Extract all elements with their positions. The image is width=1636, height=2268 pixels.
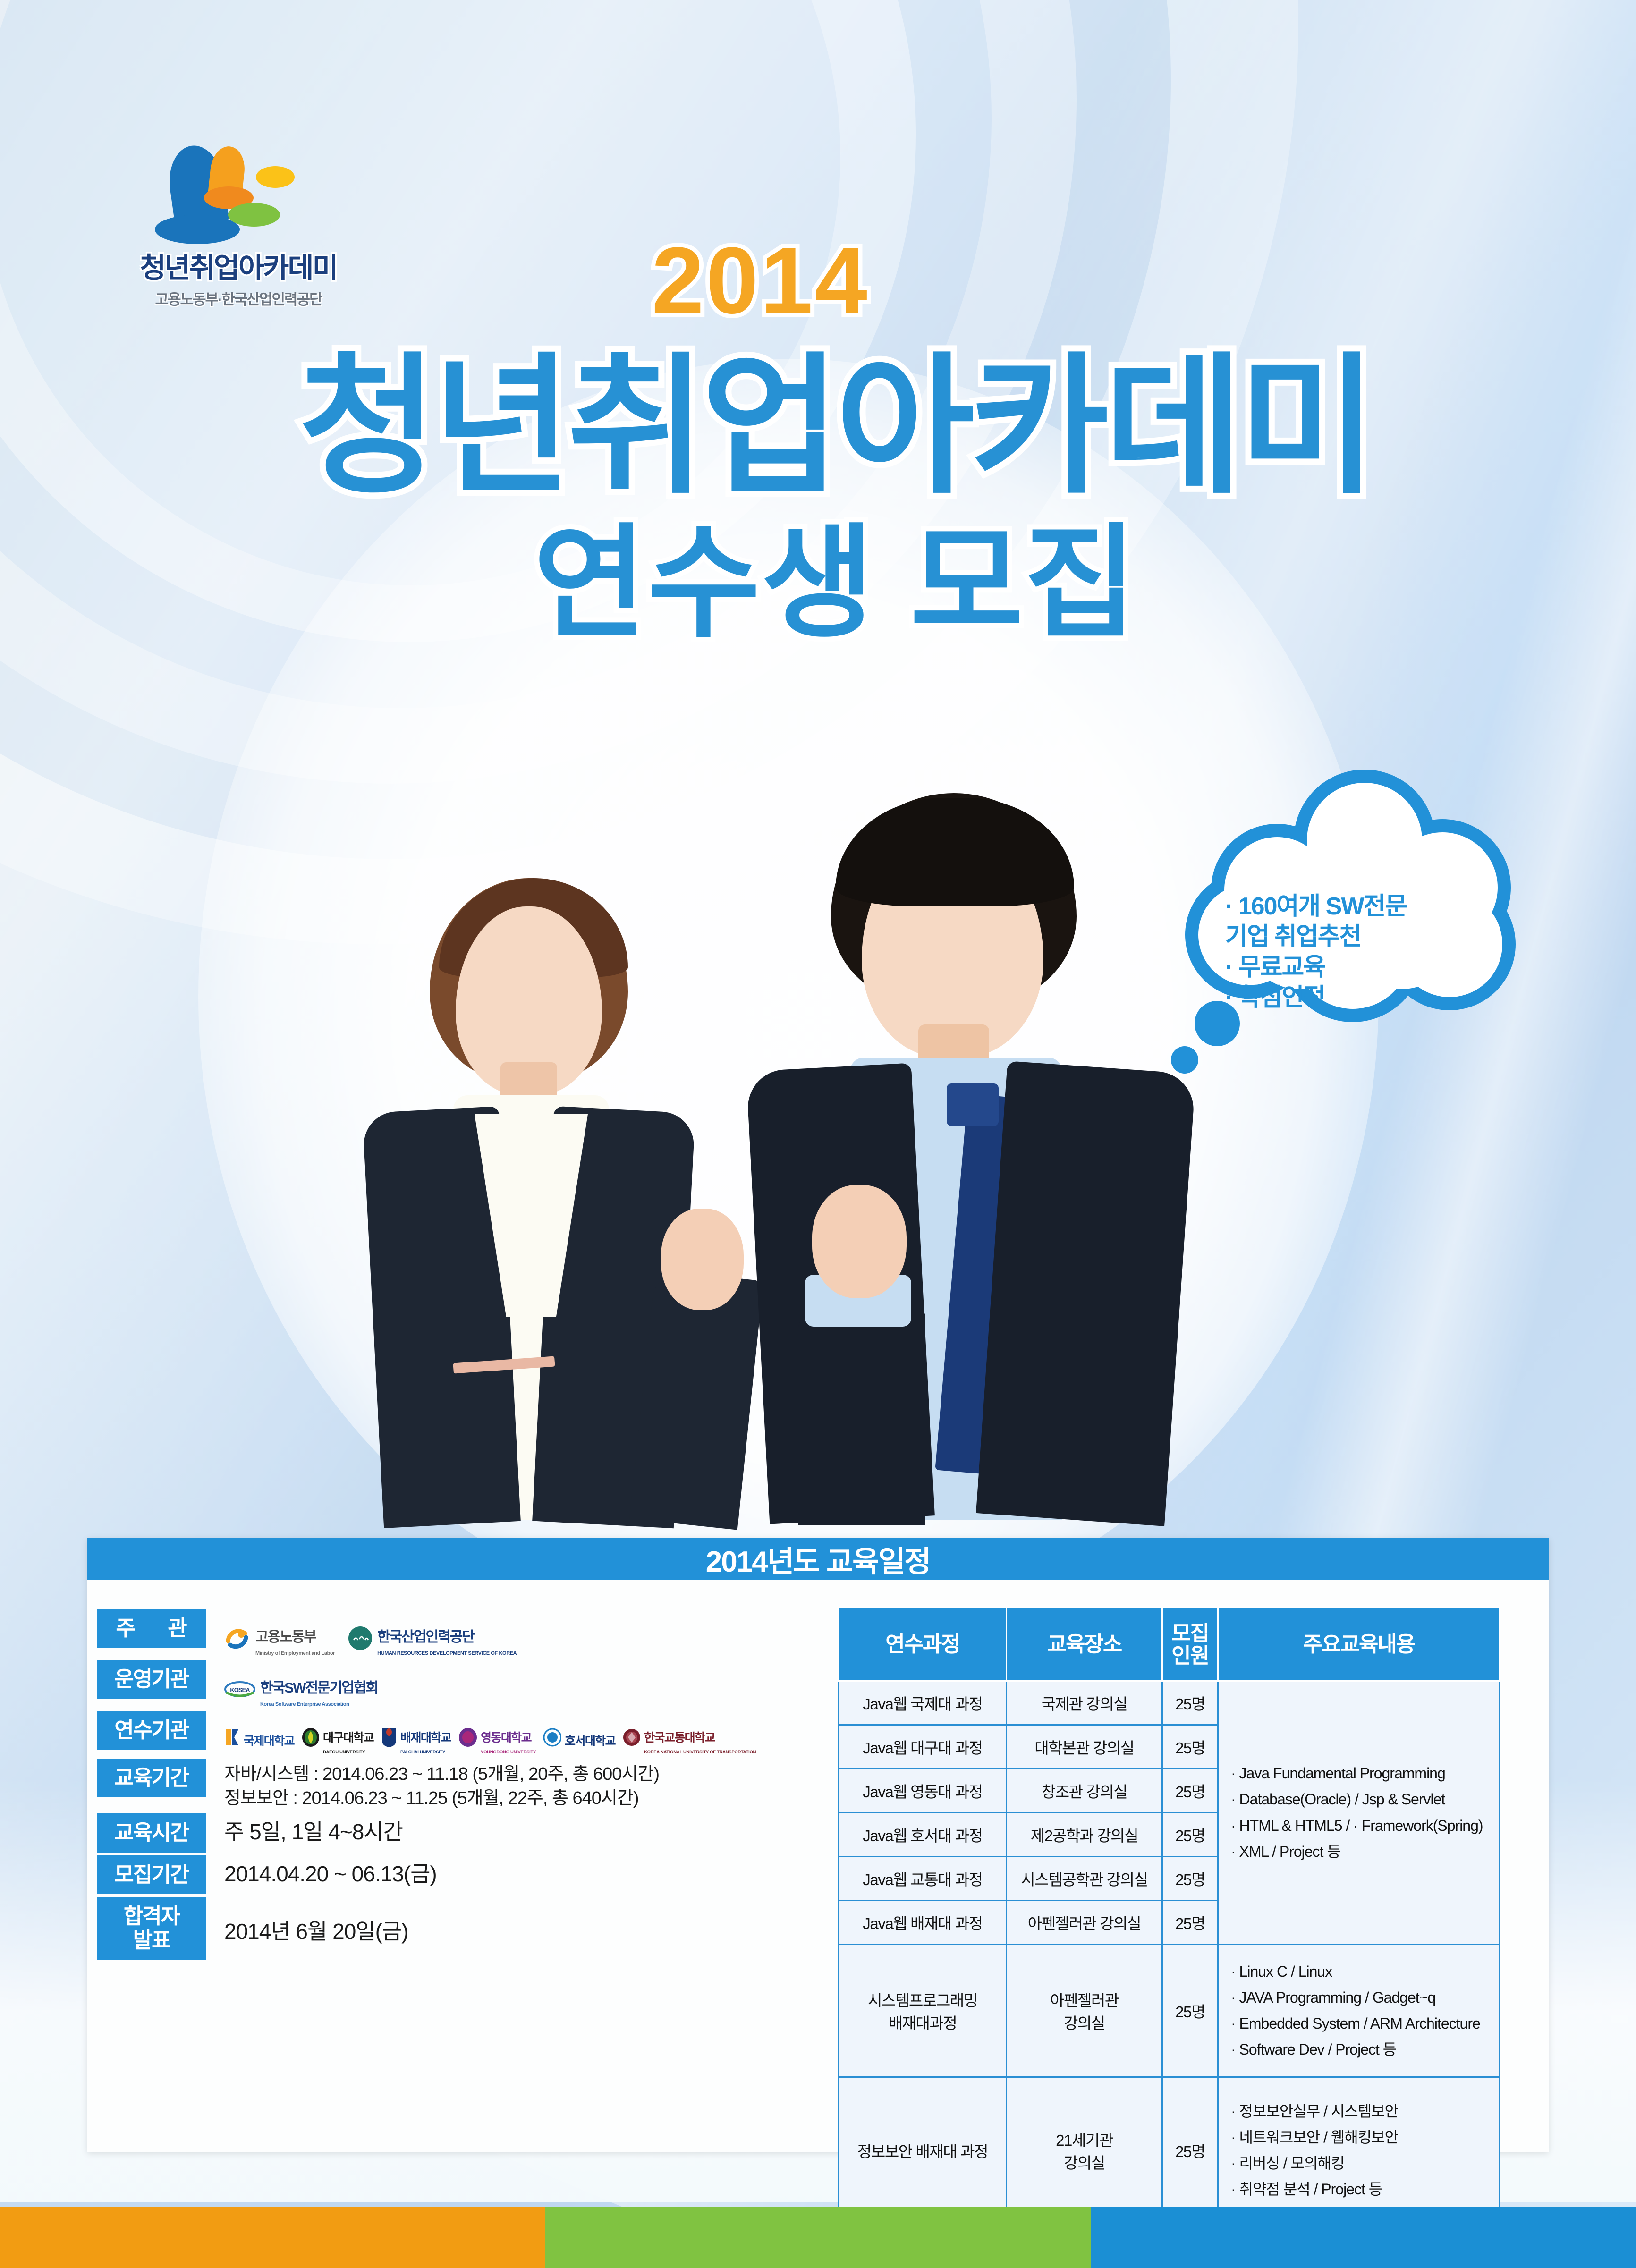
highlights-text: · 160여개 SW전문 기업 취업추천 · 무료교육 · 학점인정 — [1225, 891, 1490, 1013]
info-label-host: 주 관 — [97, 1609, 206, 1648]
info-value-training-institutions: 국제대학교 대구대학교 DAEGU UNIVERSITY — [206, 1711, 833, 1756]
university-daegu-en: DAEGU UNIVERSITY — [323, 1750, 373, 1756]
cell-topics-sysprog: · Linux C / Linux · JAVA Programming / G… — [1218, 1945, 1500, 2077]
bottom-bar-orange — [0, 2207, 545, 2268]
cell-quota: 25명 — [1162, 1813, 1218, 1857]
man-necktie-knot — [947, 1083, 999, 1126]
university-transportation: 한국교통대학교 KOREA NATIONAL UNIVERSITY OF TRA… — [623, 1719, 756, 1756]
highlights-speech-bubble: · 160여개 SW전문 기업 취업추천 · 무료교육 · 학점인정 — [1176, 770, 1525, 1039]
cell-place: 아펜젤러관 강의실 — [1007, 1901, 1162, 1945]
table-row: 시스템프로그래밍 배재대과정 아펜젤러관 강의실 25명 · Linux C /… — [839, 1945, 1500, 2077]
info-label-operator: 운영기관 — [97, 1660, 206, 1699]
cell-quota: 25명 — [1162, 1725, 1218, 1769]
university-transportation-ko: 한국교통대학교 — [644, 1731, 715, 1744]
col-header-topics: 주요교육내용 — [1218, 1608, 1500, 1681]
info-row-host: 주 관 고용노동부 Ministry of Employment an — [87, 1609, 833, 1657]
cell-course: Java웹 영동대 과정 — [839, 1769, 1007, 1813]
youngdong-crest-icon — [458, 1727, 477, 1747]
sponsor-molab-ko: 고용노동부 — [255, 1629, 316, 1645]
info-row-training-institutions: 연수기관 국제대학교 — [87, 1711, 833, 1756]
col-header-course: 연수과정 — [839, 1608, 1007, 1681]
info-row-operator: 운영기관 KOSEA 한국SW전문기업협회 Korea Software Ent — [87, 1660, 833, 1708]
table-header-row: 연수과정 교육장소 모집 인원 주요교육내용 — [839, 1608, 1500, 1681]
cell-place: 아펜젤러관 강의실 — [1007, 1945, 1162, 2077]
molab-emblem-icon — [224, 1625, 251, 1651]
schedule-panel-title: 2014년도 교육일정 — [706, 1538, 930, 1580]
col-header-place: 교육장소 — [1007, 1608, 1162, 1681]
university-daegu: 대구대학교 DAEGU UNIVERSITY — [302, 1719, 373, 1756]
daegu-crest-icon — [302, 1727, 320, 1747]
cell-place: 시스템공학관 강의실 — [1007, 1857, 1162, 1901]
bubble-tail-small — [1171, 1046, 1198, 1074]
schedule-panel-header: 2014년도 교육일정 — [87, 1538, 1549, 1580]
info-label-announcement: 합격자 발표 — [97, 1897, 206, 1960]
man-jacket-right — [976, 1061, 1196, 1526]
cell-course: Java웹 국제대 과정 — [839, 1681, 1007, 1725]
info-row-announcement: 합격자 발표 2014년 6월 20일(금) — [87, 1897, 833, 1960]
info-value-announcement: 2014년 6월 20일(금) — [206, 1897, 833, 1946]
program-info-list: 주 관 고용노동부 Ministry of Employment an — [87, 1580, 833, 2152]
cell-course: 정보보안 배재대 과정 — [839, 2077, 1007, 2224]
students-photo — [359, 736, 1256, 1539]
cell-place: 제2공학과 강의실 — [1007, 1813, 1162, 1857]
operator-kosea-en: Korea Software Enterprise Association — [260, 1701, 378, 1708]
university-paichai-ko: 배재대학교 — [400, 1731, 451, 1744]
cell-quota: 25명 — [1162, 1945, 1218, 2077]
operator-kosea-ko: 한국SW전문기업협회 — [260, 1680, 378, 1696]
transportation-crest-icon — [623, 1727, 641, 1747]
info-row-application: 모집기간 2014.04.20 ~ 06.13(금) — [87, 1855, 833, 1894]
university-kukje: 국제대학교 — [224, 1723, 294, 1752]
academy-logo-mark-icon — [151, 142, 326, 248]
info-label-period: 교육기간 — [97, 1759, 206, 1797]
hoseo-crest-icon — [543, 1727, 561, 1747]
sponsor-molab: 고용노동부 Ministry of Employment and Labor — [224, 1619, 335, 1657]
cell-topics-java: · Java Fundamental Programming · Databas… — [1218, 1681, 1500, 1945]
university-youngdong: 영동대학교 YOUNGDONG UNIVERSITY — [458, 1719, 536, 1756]
cell-topics-security: · 정보보안실무 / 시스템보안 · 네트워크보안 / 웹해킹보안 · 리버싱 … — [1218, 2077, 1500, 2224]
university-youngdong-ko: 영동대학교 — [481, 1731, 531, 1744]
bottom-color-bar — [0, 2207, 1636, 2268]
bottom-bar-blue — [1091, 2207, 1636, 2268]
info-label-training-institutions: 연수기관 — [97, 1711, 206, 1750]
info-row-period: 교육기간 자바/시스템 : 2014.06.23 ~ 11.18 (5개월, 2… — [87, 1759, 833, 1811]
cell-place: 국제관 강의실 — [1007, 1681, 1162, 1725]
cell-course: Java웹 대구대 과정 — [839, 1725, 1007, 1769]
cell-quota: 25명 — [1162, 1857, 1218, 1901]
hero-title-line1: 청년취업아카데미 — [198, 349, 1473, 503]
academy-logo-subtitle: 고용노동부·한국산업인력공단 — [116, 288, 361, 309]
university-transportation-en: KOREA NATIONAL UNIVERSITY OF TRANSPORTAT… — [644, 1750, 756, 1756]
course-table: 연수과정 교육장소 모집 인원 주요교육내용 Java웹 국제대 과정 국제관 … — [838, 1607, 1500, 2225]
schedule-panel: 2014년도 교육일정 주 관 — [87, 1538, 1549, 2152]
sponsor-hrdkorea: 한국산업인력공단 HUMAN RESOURCES DEVELOPMENT SER… — [348, 1619, 517, 1657]
svg-text:KOSEA: KOSEA — [230, 1686, 250, 1693]
cell-course: Java웹 호서대 과정 — [839, 1813, 1007, 1857]
cell-course: Java웹 교통대 과정 — [839, 1857, 1007, 1901]
university-daegu-ko: 대구대학교 — [323, 1731, 373, 1744]
cell-quota: 25명 — [1162, 1681, 1218, 1725]
info-row-hours: 교육시간 주 5일, 1일 4~8시간 — [87, 1813, 833, 1852]
info-value-application: 2014.04.20 ~ 06.13(금) — [206, 1855, 833, 1888]
cell-course: Java웹 배재대 과정 — [839, 1901, 1007, 1945]
sponsor-molab-en: Ministry of Employment and Labor — [255, 1650, 335, 1657]
cell-course: 시스템프로그래밍 배재대과정 — [839, 1945, 1007, 2077]
university-hoseo-ko: 호서대학교 — [565, 1735, 615, 1748]
operator-kosea: KOSEA 한국SW전문기업협회 Korea Software Enterpri… — [224, 1670, 378, 1708]
cell-place: 21세기관 강의실 — [1007, 2077, 1162, 2224]
academy-logo-name: 청년취업아카데미 — [116, 245, 361, 286]
cell-quota: 25명 — [1162, 1901, 1218, 1945]
bottom-bar-green — [545, 2207, 1091, 2268]
col-header-quota: 모집 인원 — [1162, 1608, 1218, 1681]
info-label-hours: 교육시간 — [97, 1813, 206, 1852]
paichai-crest-icon — [381, 1727, 397, 1748]
sponsor-hrdkorea-ko: 한국산업인력공단 — [377, 1629, 474, 1645]
man-fist — [812, 1185, 907, 1298]
kukje-crest-icon — [224, 1727, 240, 1747]
cell-quota: 25명 — [1162, 2077, 1218, 2224]
university-hoseo: 호서대학교 — [543, 1723, 615, 1752]
info-value-host: 고용노동부 Ministry of Employment and Labor 한… — [206, 1609, 833, 1657]
info-value-operator: KOSEA 한국SW전문기업협회 Korea Software Enterpri… — [206, 1660, 833, 1708]
info-value-period: 자바/시스템 : 2014.06.23 ~ 11.18 (5개월, 20주, 총… — [206, 1759, 833, 1811]
table-row: 정보보안 배재대 과정 21세기관 강의실 25명 · 정보보안실무 / 시스템… — [839, 2077, 1500, 2224]
hero-title-line2: 연수생 모집 — [198, 519, 1473, 648]
cell-quota: 25명 — [1162, 1769, 1218, 1813]
hero-year: 2014 — [652, 227, 869, 335]
university-youngdong-en: YOUNGDONG UNIVERSITY — [481, 1750, 536, 1756]
university-paichai: 배재대학교 PAI CHAI UNIVERSITY — [381, 1719, 451, 1756]
cell-place: 대학본관 강의실 — [1007, 1725, 1162, 1769]
kosea-emblem-icon: KOSEA — [224, 1677, 255, 1701]
info-value-hours: 주 5일, 1일 4~8시간 — [206, 1813, 833, 1846]
period-line-security: 정보보안 : 2014.06.23 ~ 11.25 (5개월, 22주, 총 6… — [224, 1786, 833, 1811]
table-row: Java웹 국제대 과정 국제관 강의실 25명 · Java Fundamen… — [839, 1681, 1500, 1725]
hrdkorea-emblem-icon — [348, 1626, 373, 1650]
schedule-panel-body: 주 관 고용노동부 Ministry of Employment an — [87, 1580, 1549, 2152]
sponsor-hrdkorea-en: HUMAN RESOURCES DEVELOPMENT SERVICE OF K… — [377, 1650, 517, 1657]
man-hair-front — [836, 798, 1074, 906]
woman-fist — [661, 1209, 744, 1310]
academy-logo: 청년취업아카데미 고용노동부·한국산업인력공단 — [116, 142, 361, 309]
course-table-wrapper: 연수과정 교육장소 모집 인원 주요교육내용 Java웹 국제대 과정 국제관 … — [833, 1580, 1549, 2152]
cell-place: 창조관 강의실 — [1007, 1769, 1162, 1813]
period-line-java: 자바/시스템 : 2014.06.23 ~ 11.18 (5개월, 20주, 총… — [224, 1762, 833, 1786]
man-arm — [798, 1308, 925, 1525]
university-kukje-ko: 국제대학교 — [244, 1735, 294, 1748]
info-label-application: 모집기간 — [97, 1855, 206, 1894]
university-paichai-en: PAI CHAI UNIVERSITY — [400, 1750, 451, 1756]
